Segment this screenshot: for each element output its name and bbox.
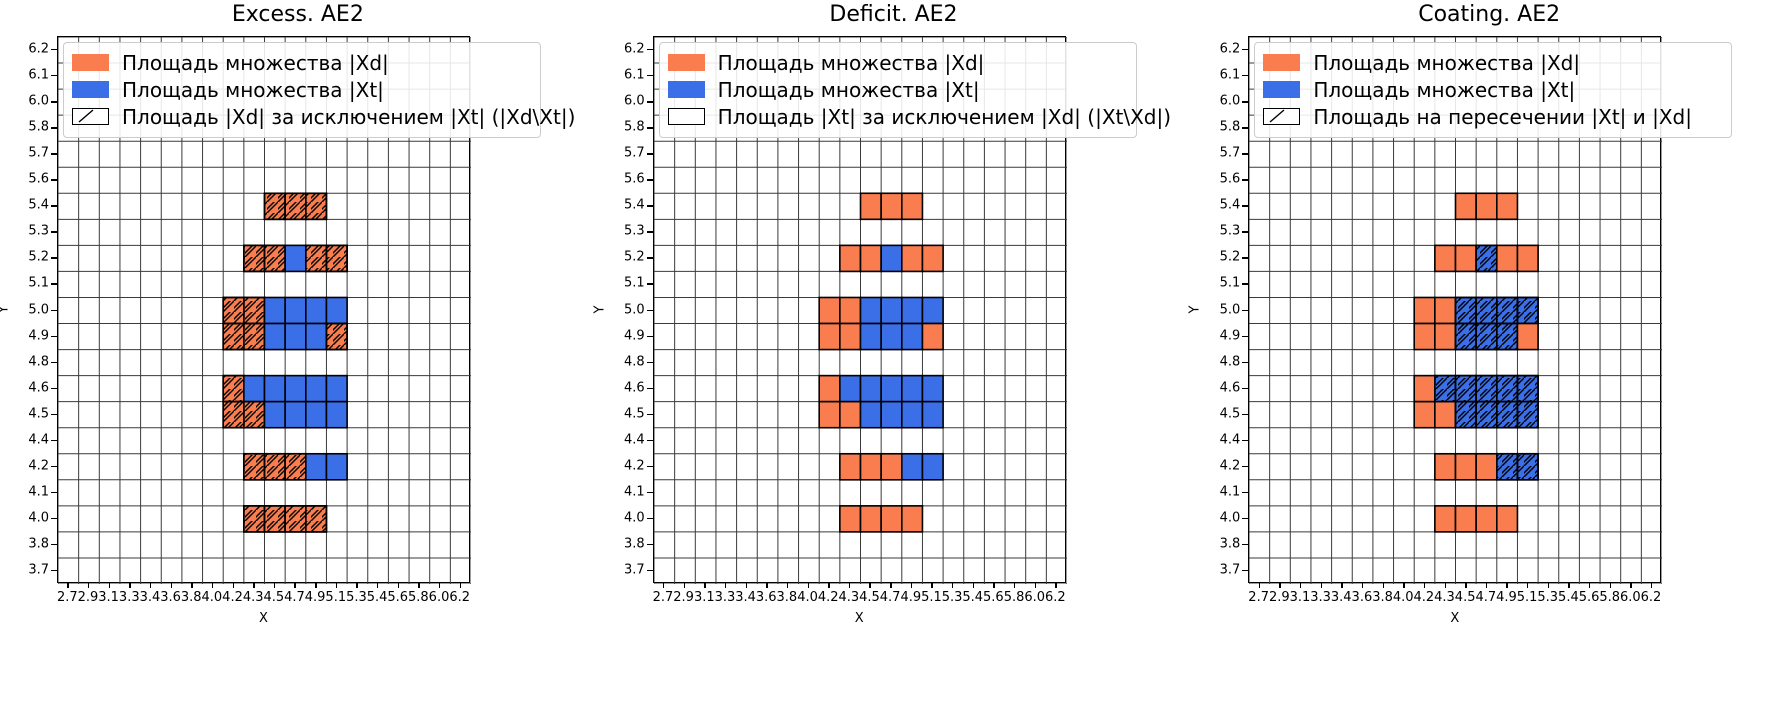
xtick-label: 4.5: [859, 590, 880, 605]
cell-hatch-overlay: [1497, 324, 1518, 350]
xtick-mark: [1055, 583, 1056, 588]
cell-hatch-overlay: [1456, 297, 1477, 323]
ytick-label: 5.2: [1198, 250, 1240, 265]
cell-blue: [922, 297, 943, 323]
ytick-mark: [647, 492, 653, 493]
ytick-mark: [1242, 127, 1248, 128]
xtick-label: 2.7: [653, 590, 674, 605]
ytick-mark: [647, 283, 653, 284]
ytick-label: 6.2: [1198, 42, 1240, 57]
xtick-mark: [88, 583, 89, 588]
ytick-mark: [51, 49, 57, 50]
ytick-label: 6.0: [7, 94, 49, 109]
legend-label: Площадь множества |Xd|: [718, 53, 985, 73]
legend-item-hatch[interactable]: Площадь |Xd| за исключением |Xt| (|Xd\Xt…: [72, 103, 532, 130]
xtick-label: 6.2: [1641, 590, 1662, 605]
cell-blue: [881, 297, 902, 323]
legend-excess[interactable]: Площадь множества |Xd|Площадь множества …: [63, 42, 541, 138]
x-axis-label: X: [1450, 611, 1459, 626]
ytick-mark: [51, 466, 57, 467]
ytick-mark: [647, 75, 653, 76]
cell-orange: [1435, 245, 1456, 271]
ytick-label: 6.2: [603, 42, 645, 57]
cell-hatch-overlay: [1497, 376, 1518, 402]
cell-orange: [922, 324, 943, 350]
ytick-mark: [647, 231, 653, 232]
ytick-mark: [647, 518, 653, 519]
cell-orange: [1435, 324, 1456, 350]
legend-item-blue[interactable]: Площадь множества |Xt|: [668, 76, 1128, 103]
xtick-label: 3.6: [160, 590, 181, 605]
xtick-mark: [993, 583, 994, 588]
xtick-mark: [439, 583, 440, 588]
ytick-mark: [1242, 336, 1248, 337]
ytick-label: 6.1: [603, 68, 645, 83]
ytick-label: 6.0: [603, 94, 645, 109]
xtick-mark: [746, 583, 747, 588]
cell-orange: [860, 506, 881, 532]
ytick-mark: [51, 362, 57, 363]
xtick-mark: [1630, 583, 1631, 588]
ytick-label: 5.0: [1198, 302, 1240, 317]
cell-blue: [901, 324, 922, 350]
ytick-label: 5.1: [1198, 276, 1240, 291]
cell-orange: [860, 193, 881, 219]
xtick-mark: [1259, 583, 1260, 588]
xtick-mark: [1445, 583, 1446, 588]
xtick-label: 4.0: [202, 590, 223, 605]
ytick-mark: [51, 544, 57, 545]
xtick-mark: [766, 583, 767, 588]
cell-hatch-overlay: [1518, 376, 1539, 402]
ytick-label: 4.9: [1198, 328, 1240, 343]
xtick-mark: [398, 583, 399, 588]
panel-excess: Excess. AE26.26.16.05.85.75.65.45.35.25.…: [0, 0, 596, 709]
xtick-mark: [171, 583, 172, 588]
legend-item-orange[interactable]: Площадь множества |Xd|: [1263, 49, 1723, 76]
xtick-mark: [253, 583, 254, 588]
xtick-mark: [787, 583, 788, 588]
legend-item-orange[interactable]: Площадь множества |Xd|: [72, 49, 532, 76]
ytick-label: 5.0: [7, 302, 49, 317]
cell-orange: [840, 324, 861, 350]
ytick-mark: [647, 570, 653, 571]
cell-orange: [1415, 297, 1436, 323]
xtick-label: 4.3: [1434, 590, 1455, 605]
cell-blue: [922, 454, 943, 480]
ytick-label: 4.6: [1198, 380, 1240, 395]
cell-blue: [265, 297, 286, 323]
cell-blue: [265, 402, 286, 428]
legend-swatch-hatch-icon: [668, 108, 705, 125]
ytick-label: 5.6: [7, 172, 49, 187]
xtick-label: 6.2: [449, 590, 470, 605]
xtick-mark: [1279, 583, 1280, 588]
cell-blue: [306, 297, 327, 323]
xtick-mark: [1651, 583, 1652, 588]
cell-orange: [840, 297, 861, 323]
ytick-label: 5.8: [1198, 120, 1240, 135]
y-axis-label: Y: [1188, 305, 1203, 313]
xtick-mark: [1341, 583, 1342, 588]
ytick-label: 5.7: [7, 146, 49, 161]
xtick-mark: [1035, 583, 1036, 588]
ytick-label: 4.1: [7, 484, 49, 499]
cell-hatch-overlay: [244, 454, 265, 480]
cell-orange: [1435, 402, 1456, 428]
cell-orange: [1456, 454, 1477, 480]
cell-hatch-overlay: [1456, 402, 1477, 428]
ytick-mark: [51, 153, 57, 154]
xtick-mark: [808, 583, 809, 588]
xtick-label: 3.3: [715, 590, 736, 605]
xtick-label: 3.8: [777, 590, 798, 605]
ytick-label: 4.8: [1198, 354, 1240, 369]
cell-orange: [922, 245, 943, 271]
cell-blue: [901, 402, 922, 428]
cell-hatch-overlay: [306, 506, 327, 532]
xtick-label: 2.9: [78, 590, 99, 605]
ytick-mark: [51, 205, 57, 206]
xtick-label: 5.3: [346, 590, 367, 605]
ytick-mark: [51, 570, 57, 571]
ytick-mark: [1242, 179, 1248, 180]
xtick-label: 5.6: [1579, 590, 1600, 605]
xtick-mark: [1610, 583, 1611, 588]
ytick-mark: [51, 101, 57, 102]
xtick-mark: [315, 583, 316, 588]
xtick-mark: [1465, 583, 1466, 588]
xtick-label: 3.8: [181, 590, 202, 605]
xtick-mark: [952, 583, 953, 588]
cell-hatch-overlay: [1497, 454, 1518, 480]
cell-orange: [1476, 506, 1497, 532]
legend-label: Площадь |Xt| за исключением |Xd| (|Xt\Xd…: [718, 107, 1171, 127]
ytick-mark: [51, 310, 57, 311]
ytick-label: 5.4: [1198, 198, 1240, 213]
legend-item-hatch[interactable]: Площадь на пересечении |Xt| и |Xd|: [1263, 103, 1723, 130]
xtick-label: 4.7: [1475, 590, 1496, 605]
ytick-label: 3.8: [7, 536, 49, 551]
ytick-mark: [647, 153, 653, 154]
xtick-mark: [212, 583, 213, 588]
cell-hatch-overlay: [1476, 297, 1497, 323]
hatch-glyph-icon: [73, 109, 108, 124]
ytick-label: 4.2: [7, 458, 49, 473]
cell-orange: [1456, 506, 1477, 532]
cell-hatch-overlay: [285, 506, 306, 532]
ytick-label: 5.4: [603, 198, 645, 213]
ytick-label: 4.9: [7, 328, 49, 343]
xtick-label: 4.5: [263, 590, 284, 605]
legend-deficit[interactable]: Площадь множества |Xd|Площадь множества …: [659, 42, 1137, 138]
cell-blue: [326, 376, 347, 402]
cell-orange: [901, 193, 922, 219]
cell-orange: [860, 454, 881, 480]
xtick-mark: [274, 583, 275, 588]
legend-item-hatch2[interactable]: Площадь |Xt| за исключением |Xd| (|Xt\Xd…: [668, 103, 1128, 130]
cell-orange: [1476, 193, 1497, 219]
legend-item-blue[interactable]: Площадь множества |Xt|: [72, 76, 532, 103]
cell-hatch-overlay: [244, 402, 265, 428]
cell-hatch-overlay: [326, 245, 347, 271]
legend-label: Площадь множества |Xt|: [1313, 80, 1575, 100]
cell-orange: [1435, 506, 1456, 532]
cell-orange: [1456, 193, 1477, 219]
cell-orange: [881, 506, 902, 532]
ytick-label: 4.1: [1198, 484, 1240, 499]
legend-label: Площадь на пересечении |Xt| и |Xd|: [1313, 107, 1692, 127]
cell-orange: [819, 376, 840, 402]
cell-orange: [1435, 454, 1456, 480]
ytick-label: 4.8: [603, 354, 645, 369]
xtick-label: 4.3: [838, 590, 859, 605]
xtick-mark: [869, 583, 870, 588]
ytick-label: 5.3: [603, 224, 645, 239]
xtick-mark: [67, 583, 68, 588]
ytick-mark: [51, 127, 57, 128]
cell-orange: [819, 402, 840, 428]
cell-hatch-overlay: [1476, 402, 1497, 428]
ytick-mark: [1242, 440, 1248, 441]
xtick-label: 2.7: [1248, 590, 1269, 605]
xtick-label: 5.8: [1004, 590, 1025, 605]
ytick-mark: [647, 179, 653, 180]
ytick-mark: [647, 49, 653, 50]
xtick-label: 4.7: [284, 590, 305, 605]
y-axis-label: Y: [0, 305, 11, 313]
legend-label: Площадь множества |Xd|: [1313, 53, 1580, 73]
legend-label: Площадь множества |Xt|: [718, 80, 980, 100]
xtick-label: 6.0: [1620, 590, 1641, 605]
ytick-label: 5.1: [7, 276, 49, 291]
cell-hatch-overlay: [244, 506, 265, 532]
xtick-mark: [460, 583, 461, 588]
cell-hatch-overlay: [223, 297, 244, 323]
xtick-mark: [1300, 583, 1301, 588]
xtick-label: 3.3: [1310, 590, 1331, 605]
xtick-label: 2.9: [1269, 590, 1290, 605]
xtick-mark: [233, 583, 234, 588]
ytick-label: 3.7: [7, 562, 49, 577]
panel-deficit: Deficit. AE26.26.16.05.85.75.65.45.35.25…: [596, 0, 1192, 709]
cell-hatch-overlay: [223, 402, 244, 428]
xtick-mark: [911, 583, 912, 588]
cell-blue: [860, 402, 881, 428]
ytick-label: 5.0: [603, 302, 645, 317]
legend-swatch-orange-icon: [1263, 54, 1300, 71]
ytick-label: 3.8: [1198, 536, 1240, 551]
ytick-label: 4.4: [1198, 432, 1240, 447]
xtick-label: 4.5: [1455, 590, 1476, 605]
xtick-mark: [1568, 583, 1569, 588]
ytick-label: 5.6: [1198, 172, 1240, 187]
ytick-label: 4.1: [603, 484, 645, 499]
cell-orange: [840, 245, 861, 271]
ytick-mark: [1242, 388, 1248, 389]
cell-hatch-overlay: [1476, 245, 1497, 271]
cell-orange: [840, 454, 861, 480]
ytick-mark: [647, 544, 653, 545]
ytick-mark: [1242, 205, 1248, 206]
xtick-mark: [1014, 583, 1015, 588]
cell-blue: [285, 297, 306, 323]
cell-hatch-overlay: [1518, 454, 1539, 480]
ytick-label: 6.2: [7, 42, 49, 57]
legend-item-blue[interactable]: Площадь множества |Xt|: [1263, 76, 1723, 103]
cell-orange: [1415, 376, 1436, 402]
xtick-label: 5.1: [325, 590, 346, 605]
legend-item-orange[interactable]: Площадь множества |Xd|: [668, 49, 1128, 76]
xtick-mark: [828, 583, 829, 588]
ytick-mark: [1242, 518, 1248, 519]
cell-blue: [922, 402, 943, 428]
cell-hatch-overlay: [265, 506, 286, 532]
cell-blue: [901, 297, 922, 323]
ytick-mark: [1242, 101, 1248, 102]
xtick-label: 3.6: [756, 590, 777, 605]
ytick-label: 5.6: [603, 172, 645, 187]
ytick-label: 4.4: [603, 432, 645, 447]
xtick-label: 5.6: [983, 590, 1004, 605]
cell-hatch-overlay: [285, 454, 306, 480]
xtick-label: 2.7: [57, 590, 78, 605]
ytick-label: 5.8: [603, 120, 645, 135]
ytick-mark: [647, 336, 653, 337]
panel-title-deficit: Deficit. AE2: [596, 2, 1192, 27]
xtick-label: 3.4: [1331, 590, 1352, 605]
xtick-mark: [418, 583, 419, 588]
xtick-mark: [191, 583, 192, 588]
xtick-mark: [1506, 583, 1507, 588]
cell-hatch-overlay: [265, 193, 286, 219]
ytick-label: 4.0: [603, 510, 645, 525]
ytick-mark: [1242, 544, 1248, 545]
xtick-label: 4.3: [243, 590, 264, 605]
cell-orange: [1518, 324, 1539, 350]
xtick-mark: [1486, 583, 1487, 588]
ytick-label: 4.0: [1198, 510, 1240, 525]
panel-coating: Coating. AE26.26.16.05.85.75.65.45.35.25…: [1191, 0, 1787, 709]
xtick-label: 4.9: [900, 590, 921, 605]
panel-title-excess: Excess. AE2: [0, 2, 596, 27]
cell-orange: [840, 506, 861, 532]
cell-orange: [1435, 297, 1456, 323]
cell-hatch-overlay: [326, 324, 347, 350]
xtick-mark: [931, 583, 932, 588]
cell-blue: [881, 376, 902, 402]
xtick-mark: [1424, 583, 1425, 588]
xtick-label: 4.2: [1414, 590, 1435, 605]
ytick-label: 4.6: [603, 380, 645, 395]
legend-swatch-blue-icon: [1263, 81, 1300, 98]
cell-blue: [306, 454, 327, 480]
ytick-mark: [647, 101, 653, 102]
legend-swatch-blue-icon: [668, 81, 705, 98]
cell-orange: [1456, 245, 1477, 271]
xtick-label: 3.1: [694, 590, 715, 605]
ytick-label: 6.1: [7, 68, 49, 83]
ytick-label: 4.5: [1198, 406, 1240, 421]
legend-label: Площадь |Xd| за исключением |Xt| (|Xd\Xt…: [122, 107, 575, 127]
cell-hatch-overlay: [1456, 324, 1477, 350]
x-axis-label: X: [259, 611, 268, 626]
x-axis-label: X: [855, 611, 864, 626]
cell-orange: [901, 245, 922, 271]
cell-blue: [881, 324, 902, 350]
cell-blue: [901, 376, 922, 402]
cell-orange: [840, 402, 861, 428]
ytick-label: 4.5: [7, 406, 49, 421]
cell-blue: [840, 376, 861, 402]
xtick-label: 2.9: [673, 590, 694, 605]
cell-blue: [326, 454, 347, 480]
xtick-mark: [356, 583, 357, 588]
cell-orange: [881, 193, 902, 219]
cell-blue: [265, 324, 286, 350]
cell-hatch-overlay: [1497, 402, 1518, 428]
cell-orange: [1415, 324, 1436, 350]
cell-orange: [819, 324, 840, 350]
legend-swatch-hatch-icon: [1263, 108, 1300, 125]
cell-hatch-overlay: [1476, 376, 1497, 402]
ytick-mark: [1242, 466, 1248, 467]
legend-swatch-hatch-icon: [72, 108, 109, 125]
ytick-mark: [1242, 414, 1248, 415]
ytick-mark: [647, 388, 653, 389]
cell-blue: [922, 376, 943, 402]
y-axis-label: Y: [592, 305, 607, 313]
ytick-mark: [1242, 49, 1248, 50]
ytick-label: 4.2: [1198, 458, 1240, 473]
xtick-mark: [336, 583, 337, 588]
cell-hatch-overlay: [244, 245, 265, 271]
ytick-mark: [51, 440, 57, 441]
cell-orange: [1497, 506, 1518, 532]
cell-hatch-overlay: [1497, 297, 1518, 323]
cell-orange: [1518, 245, 1539, 271]
ytick-mark: [1242, 257, 1248, 258]
ytick-label: 5.4: [7, 198, 49, 213]
cell-blue: [285, 402, 306, 428]
ytick-mark: [647, 362, 653, 363]
xtick-label: 4.7: [880, 590, 901, 605]
ytick-mark: [51, 414, 57, 415]
cell-hatch-overlay: [1476, 324, 1497, 350]
cell-blue: [860, 376, 881, 402]
cell-blue: [881, 245, 902, 271]
cell-hatch-overlay: [285, 193, 306, 219]
ytick-label: 6.1: [1198, 68, 1240, 83]
cell-hatch-overlay: [265, 454, 286, 480]
xtick-mark: [1362, 583, 1363, 588]
cell-orange: [1497, 193, 1518, 219]
cell-blue: [244, 376, 265, 402]
legend-label: Площадь множества |Xd|: [122, 53, 389, 73]
xtick-mark: [150, 583, 151, 588]
xtick-label: 5.3: [942, 590, 963, 605]
cell-hatch-overlay: [265, 245, 286, 271]
legend-coating[interactable]: Площадь множества |Xd|Площадь множества …: [1254, 42, 1732, 138]
xtick-label: 3.1: [98, 590, 119, 605]
ytick-mark: [51, 231, 57, 232]
cell-blue: [285, 376, 306, 402]
xtick-label: 3.1: [1290, 590, 1311, 605]
cell-hatch-overlay: [223, 376, 244, 402]
cell-hatch-overlay: [223, 324, 244, 350]
cell-hatch-overlay: [306, 245, 327, 271]
xtick-mark: [663, 583, 664, 588]
